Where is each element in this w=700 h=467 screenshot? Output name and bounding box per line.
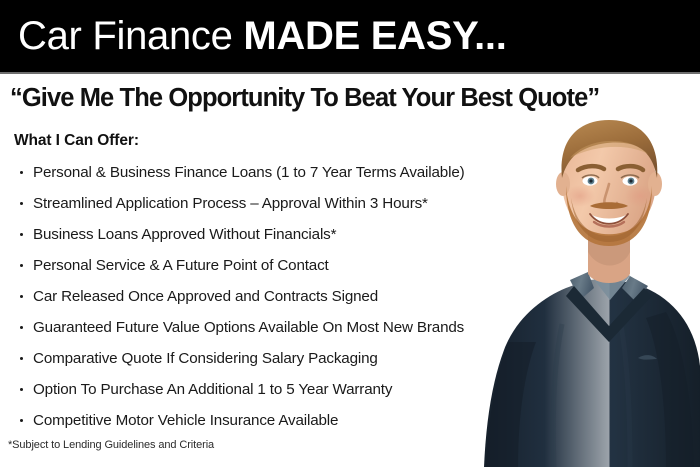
consultant-portrait-illustration	[470, 74, 700, 467]
list-item-label: Guaranteed Future Value Options Availabl…	[33, 319, 464, 336]
list-item-label: Business Loans Approved Without Financia…	[33, 226, 336, 243]
page-title-bold: MADE EASY...	[243, 14, 506, 58]
header-banner: Car Finance MADE EASY...	[0, 0, 700, 72]
list-item-label: Competitive Motor Vehicle Insurance Avai…	[33, 412, 338, 429]
list-item-label: Personal Service & A Future Point of Con…	[33, 257, 329, 274]
list-item: Streamlined Application Process – Approv…	[0, 188, 465, 219]
bullet-dot-icon	[20, 419, 23, 422]
list-item-label: Streamlined Application Process – Approv…	[33, 195, 428, 212]
bullet-dot-icon	[20, 388, 23, 391]
list-item: Personal & Business Finance Loans (1 to …	[0, 157, 465, 188]
list-item: Personal Service & A Future Point of Con…	[0, 250, 465, 281]
pupil-right	[629, 179, 632, 182]
advertisement-poster: Car Finance MADE EASY... “Give Me The Op…	[0, 0, 700, 467]
offer-heading: What I Can Offer:	[14, 131, 139, 151]
header-divider	[0, 72, 700, 74]
bullet-dot-icon	[20, 357, 23, 360]
bullet-dot-icon	[20, 326, 23, 329]
bullet-dot-icon	[20, 295, 23, 298]
footnote-disclaimer: *Subject to Lending Guidelines and Crite…	[8, 438, 214, 452]
bullet-dot-icon	[20, 202, 23, 205]
list-item: Guaranteed Future Value Options Availabl…	[0, 312, 465, 343]
list-item: Car Released Once Approved and Contracts…	[0, 281, 465, 312]
list-item-label: Car Released Once Approved and Contracts…	[33, 288, 378, 305]
bullet-dot-icon	[20, 171, 23, 174]
offer-list: Personal & Business Finance Loans (1 to …	[0, 157, 465, 436]
list-item-label: Comparative Quote If Considering Salary …	[33, 350, 378, 367]
list-item-label: Option To Purchase An Additional 1 to 5 …	[33, 381, 392, 398]
page-title: Car Finance MADE EASY...	[18, 11, 507, 61]
list-item: Comparative Quote If Considering Salary …	[0, 343, 465, 374]
pupil-left	[589, 179, 592, 182]
list-item-label: Personal & Business Finance Loans (1 to …	[33, 164, 465, 181]
list-item: Option To Purchase An Additional 1 to 5 …	[0, 374, 465, 405]
cheek-left	[565, 185, 595, 207]
list-item: Business Loans Approved Without Financia…	[0, 219, 465, 250]
bullet-dot-icon	[20, 233, 23, 236]
list-item: Competitive Motor Vehicle Insurance Avai…	[0, 405, 465, 436]
headline-quote: “Give Me The Opportunity To Beat Your Be…	[10, 82, 690, 114]
page-title-light: Car Finance	[18, 14, 243, 58]
bullet-dot-icon	[20, 264, 23, 267]
consultant-photo	[470, 74, 700, 467]
